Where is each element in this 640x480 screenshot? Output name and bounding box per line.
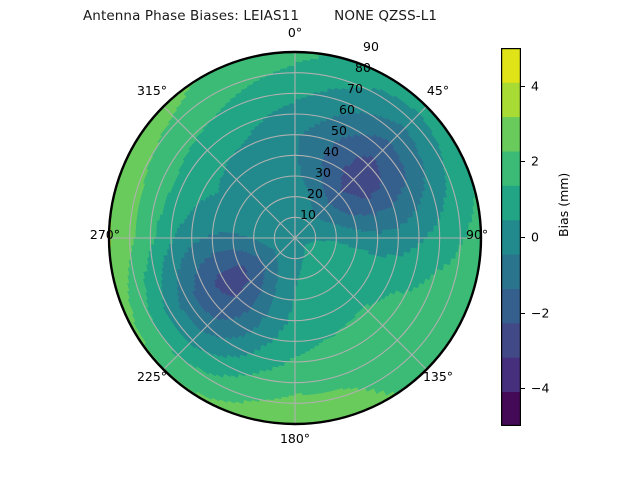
colorbar-tick-mark — [521, 86, 525, 87]
colorbar-tick-label: 4 — [531, 78, 539, 93]
theta-label-270: 270° — [60, 227, 120, 242]
r-label-70: 70 — [347, 81, 363, 96]
matplotlib-figure: Antenna Phase Biases: LEIAS11 NONE QZSS-… — [0, 0, 640, 480]
colorbar: 420−2−4 — [501, 48, 521, 426]
theta-label-0: 0° — [265, 25, 325, 40]
colorbar-tick-mark — [521, 161, 525, 162]
r-label-20: 20 — [307, 186, 323, 201]
r-label-60: 60 — [339, 102, 355, 117]
theta-label-225: 225° — [122, 369, 182, 384]
colorbar-tick-label: 2 — [531, 154, 539, 169]
colorbar-tick-mark — [521, 313, 525, 314]
r-label-80: 80 — [355, 60, 371, 75]
colorbar-tick-mark — [521, 388, 525, 389]
theta-label-90: 90° — [466, 227, 506, 242]
colorbar-tick-mark — [521, 237, 525, 238]
colorbar-tick-label: −2 — [531, 305, 549, 320]
colorbar-gradient — [501, 48, 521, 426]
colorbar-axis-label: Bias (mm) — [556, 173, 571, 237]
r-label-50: 50 — [331, 123, 347, 138]
r-label-30: 30 — [315, 165, 331, 180]
r-label-90: 90 — [363, 39, 379, 54]
theta-label-315: 315° — [122, 83, 182, 98]
page-title: Antenna Phase Biases: LEIAS11 NONE QZSS-… — [0, 8, 520, 24]
colorbar-tick-label: −4 — [531, 381, 549, 396]
colorbar-tick-label: 0 — [531, 230, 539, 245]
theta-label-45: 45° — [408, 83, 468, 98]
r-label-10: 10 — [300, 207, 316, 222]
theta-label-135: 135° — [408, 369, 468, 384]
polar-plot: 0° 45° 90° 135° 180° 225° 270° 315° 10 2… — [106, 49, 484, 427]
r-label-40: 40 — [323, 144, 339, 159]
theta-label-180: 180° — [265, 431, 325, 446]
